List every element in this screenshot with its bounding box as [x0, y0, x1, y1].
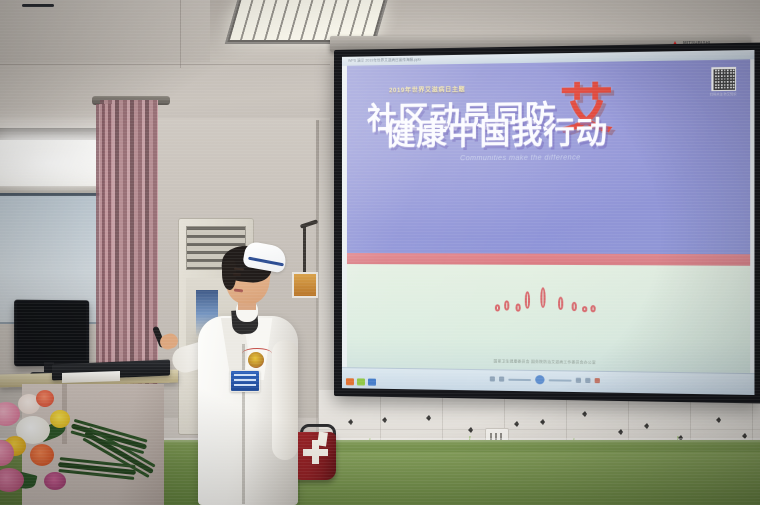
headline-line2: 健康中国我行动: [385, 119, 608, 150]
ceiling-panel: [0, 0, 210, 62]
aids-ribbon-icon: [571, 302, 579, 314]
eye: [233, 273, 241, 277]
projection-screen: WPS 演示 2019年世界艾滋病日宣传海报.pptx 扫码关注 防艾知识 20…: [334, 43, 760, 404]
flower-rose: [36, 390, 54, 407]
aids-ribbon-icon: [524, 291, 537, 314]
aids-ribbon-icon: [494, 304, 501, 313]
flower-arrangement: [0, 388, 173, 505]
flower-yellow: [50, 410, 70, 428]
fullscreen-button[interactable]: [594, 378, 599, 383]
titlebar-text: WPS 演示 2019年世界艾滋病日宣传海报.pptx: [348, 58, 421, 64]
screen-surface: WPS 演示 2019年世界艾滋病日宣传海报.pptx 扫码关注 防艾知识 20…: [342, 50, 755, 395]
next-button[interactable]: [585, 378, 590, 383]
flower-orange: [30, 444, 54, 466]
volume-track[interactable]: [548, 379, 571, 381]
flower-pink: [0, 468, 24, 492]
bag-tag: [317, 431, 328, 446]
slide-credit-line: 国家卫生健康委员会 国务院防治艾滋病工作委员会办公室: [347, 357, 750, 368]
headline-subtitle-english: Communities make the difference: [460, 154, 581, 162]
aids-ribbon-icon: [589, 305, 595, 314]
aids-ribbon-icon: [539, 287, 555, 314]
presenter: [186, 248, 316, 505]
light-louver-grid: [230, 0, 384, 40]
taskbar[interactable]: [346, 378, 376, 386]
ceiling-seam: [180, 0, 181, 68]
ceiling-seam: [0, 64, 330, 65]
staff-id-badge: [230, 370, 260, 392]
monitor-screen: [17, 303, 86, 361]
media-player-bar[interactable]: [342, 367, 755, 395]
coat-placket: [242, 344, 245, 504]
play-button[interactable]: [535, 375, 544, 384]
left-arm: [272, 340, 298, 460]
desktop-monitor: [14, 300, 89, 367]
presentation-room-photo: MITSUBISHI ELECTRIC WPS 演示 2019年世界艾滋病日宣传…: [0, 0, 760, 505]
progress-track[interactable]: [508, 378, 531, 380]
taskbar-icon[interactable]: [346, 378, 354, 385]
printed-notes: [62, 371, 120, 383]
slide-bottom-panel: 国家卫生健康委员会 国务院防治艾滋病工作委员会办公室: [347, 264, 750, 374]
prev-button[interactable]: [489, 376, 494, 381]
taskbar-icon[interactable]: [357, 378, 365, 385]
floor-right: [300, 452, 760, 505]
aids-ribbon-icon: [503, 300, 512, 313]
flower-pink: [44, 472, 66, 490]
player-controls[interactable]: [489, 374, 599, 385]
flower-lily: [0, 402, 20, 426]
taskbar-icon[interactable]: [368, 379, 376, 386]
aids-ribbon-icon: [581, 306, 587, 314]
monitor-bezel-strip: [22, 4, 54, 7]
hospital-emblem-pin: [248, 352, 264, 368]
aids-ribbon-cluster: [347, 270, 750, 316]
forward-button[interactable]: [575, 378, 580, 383]
palm-frond: [58, 462, 136, 475]
aids-ribbon-icon: [557, 296, 568, 313]
slide: 扫码关注 防艾知识 2019年世界艾滋病日主题 社区动员同防 艾 健康中国我行动…: [347, 59, 750, 374]
aids-ribbon-icon: [515, 303, 522, 313]
rewind-button[interactable]: [499, 377, 504, 382]
